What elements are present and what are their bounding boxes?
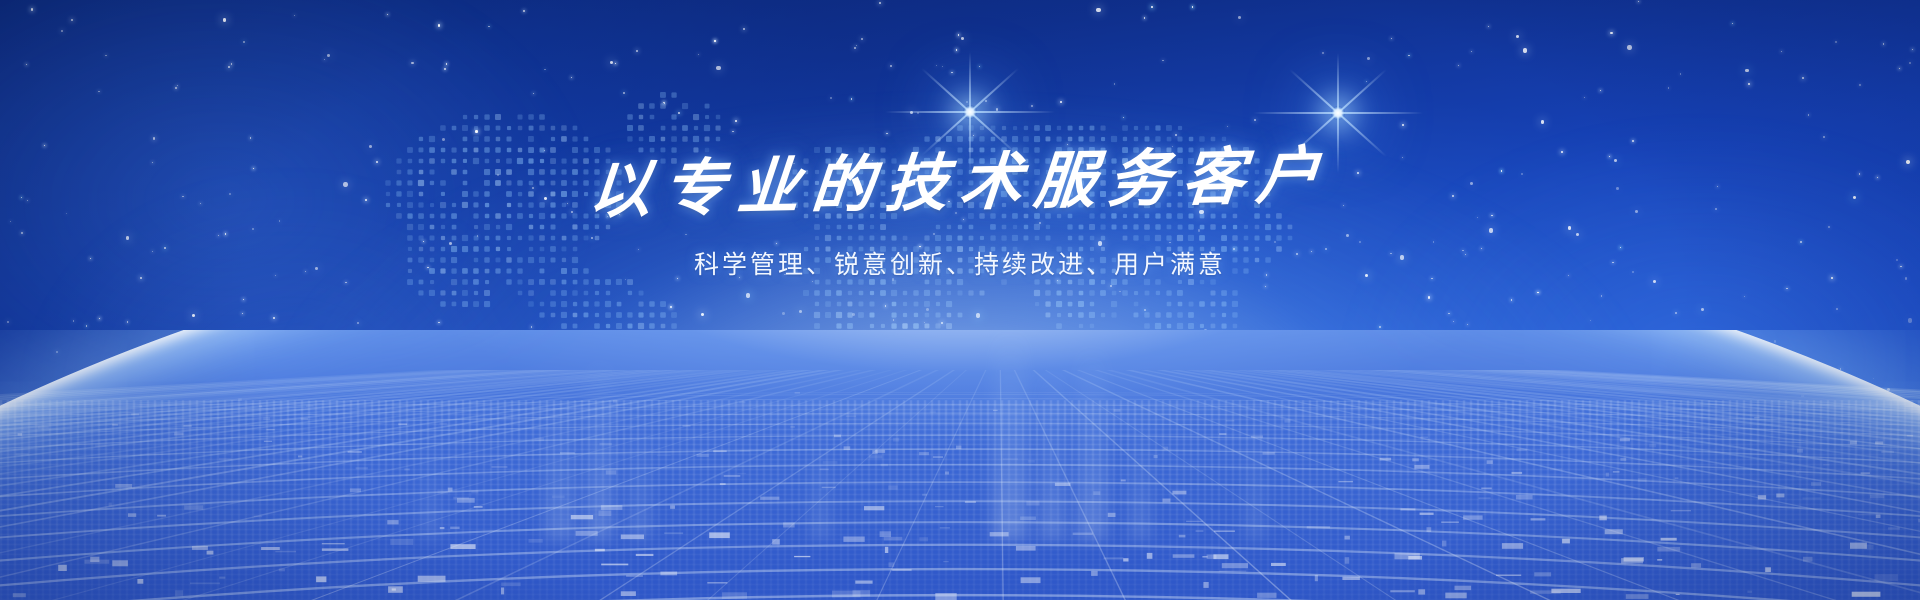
star [7, 321, 9, 323]
star [488, 26, 489, 27]
star [444, 68, 445, 69]
star [1471, 51, 1472, 52]
star [1144, 17, 1145, 18]
star [231, 63, 232, 64]
star [1675, 312, 1677, 314]
star [243, 41, 245, 43]
star [942, 66, 943, 67]
star [523, 10, 524, 11]
star [387, 14, 388, 15]
star [175, 87, 176, 88]
star [1627, 45, 1632, 50]
star [936, 65, 937, 66]
star [1408, 55, 1409, 56]
star [571, 77, 572, 78]
star [1367, 57, 1370, 60]
star [223, 18, 226, 21]
star [243, 299, 244, 300]
star [1238, 16, 1241, 19]
star [446, 63, 447, 64]
star [879, 2, 881, 4]
star [1151, 6, 1153, 8]
star [1781, 51, 1782, 52]
star [698, 54, 699, 55]
star [1908, 318, 1913, 323]
star [1732, 23, 1733, 24]
star [1748, 83, 1750, 85]
banner-subline: 科学管理、锐意创新、持续改进、用户满意 [0, 245, 1920, 281]
star [1680, 73, 1681, 74]
star [1192, 6, 1193, 7]
star [544, 69, 545, 70]
star [127, 321, 128, 322]
star [958, 34, 959, 35]
star [743, 28, 745, 30]
star [228, 66, 230, 68]
star [1523, 48, 1528, 53]
star [956, 49, 957, 50]
star [1668, 87, 1669, 88]
star [1600, 90, 1601, 91]
star [273, 317, 275, 319]
star [1808, 114, 1809, 115]
star [44, 145, 45, 146]
star [192, 314, 195, 317]
star [1745, 69, 1748, 72]
star [861, 38, 863, 40]
star [610, 61, 613, 64]
star [1537, 292, 1538, 293]
star [1590, 320, 1591, 321]
star [1391, 38, 1392, 39]
star [890, 65, 892, 67]
star [31, 8, 33, 10]
star [854, 47, 856, 49]
star [961, 37, 964, 40]
star [1096, 8, 1101, 13]
star [153, 137, 155, 139]
star [1909, 62, 1911, 64]
star [26, 64, 27, 65]
star [1584, 97, 1585, 98]
star [1488, 26, 1489, 27]
star [1516, 35, 1519, 38]
star [1701, 308, 1704, 311]
star [1744, 296, 1745, 297]
star [636, 50, 638, 52]
hero-banner: 以专业的技术服务客户 科学管理、锐意创新、持续改进、用户满意 [0, 0, 1920, 600]
star [98, 91, 99, 92]
star [99, 318, 100, 319]
star [177, 85, 178, 86]
star [250, 137, 251, 138]
star [1162, 60, 1163, 61]
star [242, 313, 243, 314]
star [979, 66, 980, 67]
star [1859, 84, 1860, 85]
star [1458, 65, 1459, 66]
star [327, 54, 330, 57]
star [856, 45, 857, 46]
star [615, 63, 616, 64]
star [1601, 295, 1602, 296]
star [411, 62, 413, 64]
earth-horizon [0, 330, 1920, 600]
star [105, 55, 106, 56]
star [716, 66, 721, 71]
star [1883, 43, 1884, 44]
star [1322, 52, 1323, 53]
star [438, 24, 440, 26]
star [1786, 288, 1787, 289]
star [294, 15, 295, 16]
banner-copy: 以专业的技术服务客户 科学管理、锐意创新、持续改进、用户满意 [0, 150, 1920, 281]
star [1836, 308, 1838, 310]
star [1802, 77, 1804, 79]
star [73, 320, 74, 321]
star [951, 72, 952, 73]
star [86, 325, 87, 326]
star [1912, 49, 1913, 50]
star [71, 19, 73, 21]
star [324, 59, 325, 60]
city-light-grid [0, 370, 1920, 600]
star [1638, 1, 1639, 2]
star [1541, 120, 1544, 123]
star [61, 30, 63, 32]
star [714, 40, 715, 41]
star [1610, 32, 1612, 34]
star [1899, 68, 1900, 69]
star [1835, 41, 1836, 42]
